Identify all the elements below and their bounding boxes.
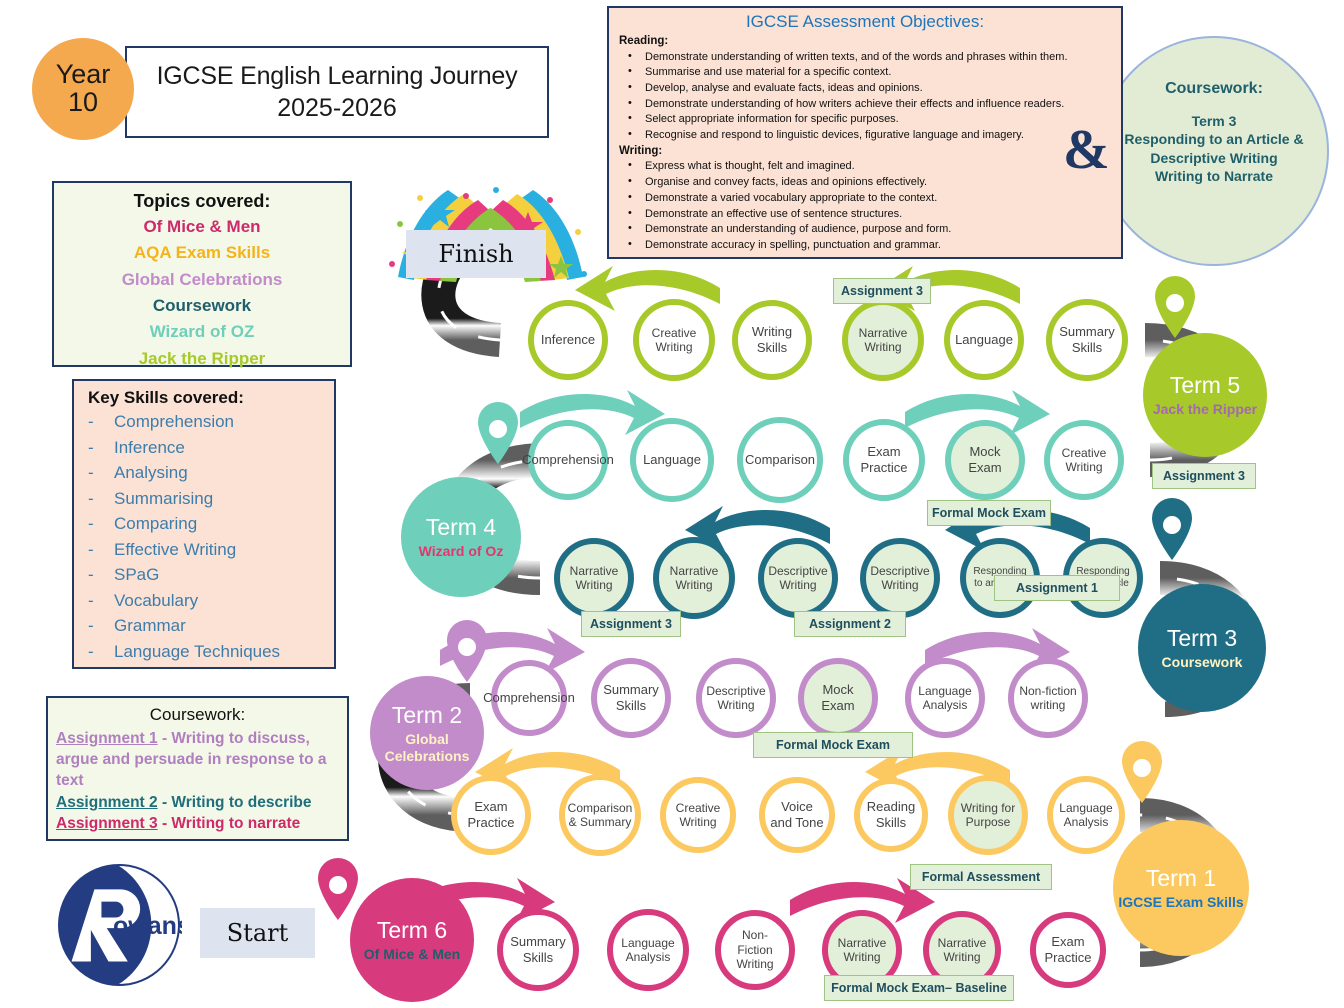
- writing-objective-4: Demonstrate an understanding of audience…: [619, 222, 1111, 238]
- term-circle-term-6[interactable]: Term 6Of Mice & Men: [350, 878, 474, 1002]
- term-subtitle: IGCSE Exam Skills: [1118, 894, 1243, 911]
- journey-node[interactable]: Summary Skills: [591, 658, 671, 738]
- journey-node-label: Inference: [536, 332, 600, 348]
- assessment-tag: Assignment 2: [794, 611, 906, 637]
- journey-node-label: Narrative Writing: [828, 936, 896, 965]
- journey-node-label: Exam Practice: [849, 444, 919, 475]
- term-subtitle: Of Mice & Men: [364, 946, 460, 963]
- assignment-desc: - Writing to describe: [158, 794, 312, 811]
- journey-node[interactable]: Language Analysis: [1047, 776, 1125, 854]
- reading-objective-5: Recognise and respond to linguistic devi…: [619, 128, 1111, 144]
- topic-item-2: Global Celebrations: [54, 267, 350, 293]
- term-name: Term 6: [377, 917, 447, 943]
- journey-node-label: Language: [638, 452, 706, 468]
- writing-heading: Writing:: [619, 144, 1111, 160]
- coursework-heading: Coursework:: [56, 702, 339, 728]
- reading-heading: Reading:: [619, 34, 1111, 50]
- reading-objective-2: Develop, analyse and evaluate facts, ide…: [619, 81, 1111, 97]
- key-skill-item-1: -Inference: [88, 435, 334, 461]
- assessment-tag: Assignment 3: [581, 611, 681, 637]
- journey-node-label: Non-fiction writing: [1014, 684, 1082, 713]
- bullet-dash: -: [88, 613, 114, 639]
- key-skills-list: -Comprehension-Inference-Analysing-Summa…: [88, 409, 334, 664]
- topic-item-5: Jack the Ripper: [54, 346, 350, 372]
- logo-text: owans: [113, 912, 182, 940]
- coursework-assignment-2: Assignment 2 - Writing to describe: [56, 792, 339, 813]
- key-skill-label: Inference: [114, 435, 185, 461]
- key-skill-label: SPaG: [114, 562, 159, 588]
- year-badge: Year 10: [32, 38, 134, 140]
- key-skill-item-3: -Summarising: [88, 486, 334, 512]
- journey-node[interactable]: Comprehension: [491, 660, 567, 736]
- bullet-dash: -: [88, 537, 114, 563]
- journey-node-label: Comparison: [740, 452, 820, 468]
- reading-objectives-list: Demonstrate understanding of written tex…: [619, 50, 1111, 144]
- writing-objective-3: Demonstrate an effective use of sentence…: [619, 207, 1111, 223]
- term-circle-term-5[interactable]: Term 5Jack the Ripper: [1143, 333, 1267, 457]
- coursework-assignment-1: Assignment 1 - Writing to discuss, argue…: [56, 728, 339, 792]
- bullet-dash: -: [88, 435, 114, 461]
- journey-node[interactable]: Mock Exam: [798, 658, 878, 738]
- assessment-objectives-title: IGCSE Assessment Objectives:: [619, 12, 1111, 32]
- term-name: Term 1: [1146, 865, 1216, 891]
- journey-node-label: Language Analysis: [613, 936, 683, 965]
- writing-objective-5: Demonstrate accuracy in spelling, punctu…: [619, 238, 1111, 254]
- journey-node[interactable]: Descriptive Writing: [758, 538, 838, 618]
- journey-node[interactable]: Exam Practice: [843, 419, 925, 501]
- journey-node-label: Creative Writing: [639, 326, 709, 355]
- term-circle-term-4[interactable]: Term 4Wizard of Oz: [401, 477, 521, 597]
- journey-node[interactable]: Non-fiction writing: [1008, 658, 1088, 738]
- journey-node[interactable]: Exam Practice: [1030, 912, 1106, 988]
- journey-node[interactable]: Writing Skills: [732, 300, 812, 380]
- journey-node-label: Comparison & Summary: [563, 801, 638, 830]
- journey-node-label: Non-Fiction Writing: [721, 928, 789, 971]
- topic-item-1: AQA Exam Skills: [54, 240, 350, 266]
- reading-objective-3: Demonstrate understanding of how writers…: [619, 97, 1111, 113]
- journey-node[interactable]: Writing for Purpose: [948, 775, 1028, 855]
- key-skill-item-7: -Vocabulary: [88, 588, 334, 614]
- journey-node-label: Narrative Writing: [659, 564, 729, 593]
- journey-node[interactable]: Summary Skills: [1046, 299, 1128, 381]
- journey-node[interactable]: Creative Writing: [633, 299, 715, 381]
- topic-item-3: Coursework: [54, 293, 350, 319]
- key-skill-item-4: -Comparing: [88, 511, 334, 537]
- reading-objective-4: Select appropriate information for speci…: [619, 112, 1111, 128]
- year-badge-line1: Year: [56, 61, 111, 89]
- journey-node-label: Descriptive Writing: [865, 564, 934, 593]
- term-circle-term-3[interactable]: Term 3Coursework: [1138, 584, 1266, 712]
- assignment-desc: - Writing to narrate: [158, 815, 301, 832]
- journey-node-label: Comprehension: [478, 690, 580, 706]
- writing-objectives-list: Express what is thought, felt and imagin…: [619, 159, 1111, 253]
- term-subtitle: Wizard of Oz: [419, 543, 504, 560]
- journey-node-label: Language: [950, 332, 1018, 348]
- ampersand-symbol: &: [1063, 118, 1110, 182]
- journey-node[interactable]: Narrative Writing: [554, 538, 634, 618]
- journey-node-label: Creative Writing: [666, 801, 730, 830]
- assignment-name: Assignment 1: [56, 730, 158, 747]
- journey-node-label: Narrative Writing: [848, 326, 918, 355]
- key-skills-heading: Key Skills covered:: [88, 388, 334, 408]
- assessment-tag: Assignment 3: [833, 278, 931, 304]
- key-skill-label: Summarising: [114, 486, 213, 512]
- journey-node[interactable]: Summary Skills: [497, 909, 579, 991]
- key-skill-item-5: -Effective Writing: [88, 537, 334, 563]
- journey-node[interactable]: Voice and Tone: [759, 777, 835, 853]
- term-subtitle: Global Celebrations: [370, 731, 484, 764]
- key-skill-label: Comparing: [114, 511, 197, 537]
- bullet-dash: -: [88, 562, 114, 588]
- journey-node-label: Language Analysis: [1053, 801, 1119, 830]
- finish-marker: Finish: [378, 182, 603, 287]
- term-name: Term 4: [426, 514, 496, 540]
- year-badge-line2: 10: [68, 89, 98, 117]
- journey-node-label: Descriptive Writing: [701, 684, 770, 713]
- journey-node-label: Voice and Tone: [765, 799, 829, 830]
- term-subtitle: Coursework: [1162, 654, 1243, 671]
- term-subtitle: Jack the Ripper: [1153, 401, 1257, 418]
- term-name: Term 2: [392, 702, 462, 728]
- assessment-tag: Assignment 1: [994, 575, 1120, 601]
- rowans-logo: owans: [56, 862, 182, 988]
- journey-node-label: Summary Skills: [1052, 324, 1122, 355]
- finish-label: Finish: [406, 230, 546, 278]
- topic-item-0: Of Mice & Men: [54, 214, 350, 240]
- assessment-tag: Formal Mock Exam: [927, 500, 1051, 526]
- journey-node-label: Exam Practice: [1036, 934, 1100, 965]
- journey-node-label: Narrative Writing: [560, 564, 628, 593]
- journey-node[interactable]: Narrative Writing: [842, 299, 924, 381]
- journey-node[interactable]: Language: [630, 418, 714, 502]
- journey-node[interactable]: Narrative Writing: [653, 537, 735, 619]
- term-circle-term-2[interactable]: Term 2Global Celebrations: [370, 676, 484, 790]
- journey-node[interactable]: Comparison: [737, 417, 823, 503]
- journey-node-label: Writing for Purpose: [954, 801, 1022, 830]
- assessment-tag: Formal Mock Exam: [753, 732, 913, 758]
- journey-node[interactable]: Comparison & Summary: [559, 774, 641, 856]
- key-skill-label: Grammar: [114, 613, 186, 639]
- start-label: Start: [200, 908, 315, 958]
- key-skill-label: Language Techniques: [114, 639, 280, 665]
- assessment-tag: Formal Assessment: [910, 864, 1052, 890]
- journey-node-label: Writing Skills: [738, 324, 806, 355]
- journey-node-label: Creative Writing: [1050, 446, 1118, 475]
- coursework-assignment-3: Assignment 3 - Writing to narrate: [56, 813, 339, 834]
- journey-node-label: Mock Exam: [951, 444, 1019, 475]
- coursework-assignment-list: Assignment 1 - Writing to discuss, argue…: [56, 728, 339, 835]
- term-name: Term 3: [1167, 625, 1237, 651]
- bullet-dash: -: [88, 511, 114, 537]
- topic-item-4: Wizard of OZ: [54, 319, 350, 345]
- coursework-panel: Coursework: Assignment 1 - Writing to di…: [46, 696, 349, 841]
- journey-node-label: Comprehension: [517, 452, 619, 468]
- journey-node[interactable]: Creative Writing: [1044, 420, 1124, 500]
- journey-node[interactable]: Exam Practice: [451, 775, 531, 855]
- key-skill-item-0: -Comprehension: [88, 409, 334, 435]
- journey-node-label: Narrative Writing: [929, 936, 995, 965]
- journey-node-label: Descriptive Writing: [763, 564, 832, 593]
- journey-node[interactable]: Language: [944, 300, 1024, 380]
- assessment-tag: Assignment 3: [1152, 463, 1256, 489]
- journey-node[interactable]: Non-Fiction Writing: [715, 910, 795, 990]
- key-skill-label: Effective Writing: [114, 537, 236, 563]
- journey-node[interactable]: Reading Skills: [854, 778, 928, 852]
- bullet-dash: -: [88, 460, 114, 486]
- writing-objective-0: Express what is thought, felt and imagin…: [619, 159, 1111, 175]
- key-skill-item-9: -Language Techniques: [88, 639, 334, 665]
- assignment-name: Assignment 2: [56, 794, 158, 811]
- key-skills-panel: Key Skills covered: -Comprehension-Infer…: [72, 379, 336, 669]
- topics-covered-panel: Topics covered: Of Mice & MenAQA Exam Sk…: [52, 181, 352, 367]
- bullet-dash: -: [88, 486, 114, 512]
- journey-node[interactable]: Language Analysis: [607, 909, 689, 991]
- journey-node-label: Exam Practice: [457, 799, 525, 830]
- reading-objective-1: Summarise and use material for a specifi…: [619, 65, 1111, 81]
- term-circle-term-1[interactable]: Term 1IGCSE Exam Skills: [1113, 820, 1249, 956]
- bullet-dash: -: [88, 639, 114, 665]
- journey-node[interactable]: Descriptive Writing: [860, 538, 940, 618]
- key-skill-label: Vocabulary: [114, 588, 198, 614]
- writing-objective-2: Demonstrate a varied vocabulary appropri…: [619, 191, 1111, 207]
- reading-objective-0: Demonstrate understanding of written tex…: [619, 50, 1111, 66]
- journey-node[interactable]: Language Analysis: [905, 658, 985, 738]
- key-skill-item-2: -Analysing: [88, 460, 334, 486]
- topics-heading: Topics covered:: [54, 188, 350, 214]
- journey-node[interactable]: Creative Writing: [660, 777, 736, 853]
- key-skill-label: Comprehension: [114, 409, 234, 435]
- assessment-objectives-panel: IGCSE Assessment Objectives: Reading: De…: [607, 6, 1123, 259]
- journey-node-label: Reading Skills: [860, 799, 922, 830]
- assessment-tag: Formal Mock Exam– Baseline: [824, 975, 1014, 1001]
- journey-node-label: Language Analysis: [911, 684, 979, 713]
- journey-node[interactable]: Descriptive Writing: [696, 658, 776, 738]
- assignment-name: Assignment 3: [56, 815, 158, 832]
- key-skill-item-8: -Grammar: [88, 613, 334, 639]
- key-skill-label: Analysing: [114, 460, 188, 486]
- bullet-dash: -: [88, 588, 114, 614]
- bullet-dash: -: [88, 409, 114, 435]
- journey-node-label: Summary Skills: [597, 682, 665, 713]
- journey-node-label: Summary Skills: [503, 934, 573, 965]
- journey-node[interactable]: Inference: [528, 300, 608, 380]
- journey-node-label: Mock Exam: [804, 682, 872, 713]
- topics-list: Of Mice & MenAQA Exam SkillsGlobal Celeb…: [54, 214, 350, 372]
- journey-node[interactable]: Comprehension: [528, 420, 608, 500]
- writing-objective-1: Organise and convey facts, ideas and opi…: [619, 175, 1111, 191]
- term-name: Term 5: [1170, 372, 1240, 398]
- key-skill-item-6: -SPaG: [88, 562, 334, 588]
- journey-node[interactable]: Mock Exam: [945, 420, 1025, 500]
